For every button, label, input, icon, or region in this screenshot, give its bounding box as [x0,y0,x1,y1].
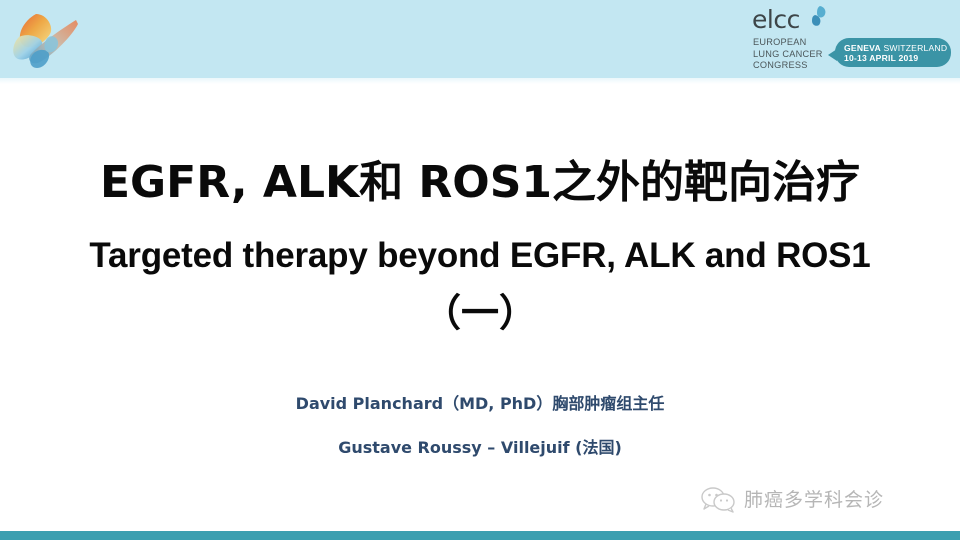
butterfly-logo [6,4,98,76]
badge-location-line: GENEVA SWITZERLAND [844,43,947,53]
badge-dates: 10-13 APRIL 2019 [844,53,918,63]
presenter-affiliation: Gustave Roussy – Villejuif (法国) [0,437,960,459]
wechat-icon [700,486,736,514]
elcc-wordmark-text: elcc [752,6,800,34]
watermark: 肺癌多学科会诊 [700,486,884,514]
banner-fade-divider [0,78,960,84]
watermark-text: 肺癌多学科会诊 [744,487,884,513]
page-title-english: Targeted therapy beyond EGFR, ALK and RO… [0,233,960,278]
elcc-subtitle-line-1: EUROPEAN [753,37,823,49]
congress-location-badge: GENEVA SWITZERLAND 10-13 APRIL 2019 [835,38,951,67]
elcc-logo: elcc EUROPEAN LUNG CANCER CONGRESS [752,8,836,78]
elcc-wordmark: elcc [752,8,836,36]
elcc-subtitle-line-2: LUNG CANCER [753,49,823,61]
page-title-part-number: （一） [0,288,960,338]
presenter-name: David Planchard（MD, PhD）胸部肿瘤组主任 [0,393,960,415]
page-title-chinese: EGFR, ALK和 ROS1之外的靶向治疗 [0,155,960,211]
presentation-slide: elcc EUROPEAN LUNG CANCER CONGRESS GENEV… [0,0,960,540]
elcc-subtitle-line-3: CONGRESS [753,60,823,72]
elcc-leaf-icon [807,5,829,27]
elcc-subtitle: EUROPEAN LUNG CANCER CONGRESS [753,37,823,72]
badge-country: SWITZERLAND [883,43,947,53]
badge-city: GENEVA [844,43,881,53]
badge-tail [828,49,837,61]
footer-bar [0,531,960,540]
